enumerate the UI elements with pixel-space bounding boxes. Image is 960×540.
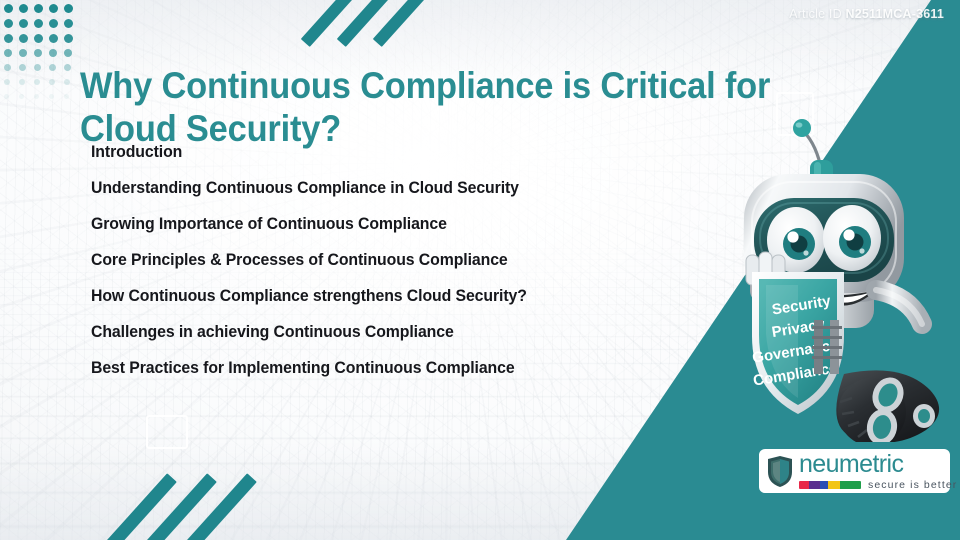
logo-text-block: neumetric secure is better bbox=[799, 452, 957, 491]
toc-item: Challenges in achieving Continuous Compl… bbox=[91, 314, 667, 350]
toc-item: Introduction bbox=[91, 134, 667, 170]
diagonal-stripes-bottom bbox=[128, 462, 268, 540]
toc-item: Understanding Continuous Compliance in C… bbox=[91, 170, 667, 206]
logo-shield-icon bbox=[766, 455, 794, 488]
logo-subline: secure is better bbox=[799, 479, 957, 491]
toc-item: How Continuous Compliance strengthens Cl… bbox=[91, 278, 667, 314]
article-id-label: Article ID bbox=[789, 7, 842, 21]
slide-canvas: Article ID N2511MCA-3611 Why Continuous … bbox=[0, 0, 960, 540]
article-id: Article ID N2511MCA-3611 bbox=[789, 7, 944, 21]
toc-item: Best Practices for Implementing Continuo… bbox=[91, 350, 667, 386]
robot-wheel bbox=[836, 370, 939, 442]
diagonal-stripes-top bbox=[320, 0, 450, 48]
robot-mascot-illustration: Security Privacy Governance Compliance bbox=[726, 112, 958, 442]
neumetric-logo: neumetric secure is better bbox=[757, 447, 952, 495]
dot-grid-decoration bbox=[4, 4, 79, 109]
table-of-contents: Introduction Understanding Continuous Co… bbox=[91, 134, 691, 386]
toc-item: Core Principles & Processes of Continuou… bbox=[91, 242, 667, 278]
logo-wordmark: neumetric bbox=[799, 452, 957, 476]
outline-square-decoration-bottom bbox=[146, 415, 188, 449]
logo-color-bar bbox=[799, 481, 861, 489]
toc-item: Growing Importance of Continuous Complia… bbox=[91, 206, 667, 242]
article-id-value: N2511MCA-3611 bbox=[846, 7, 945, 21]
logo-tagline: secure is better bbox=[868, 479, 957, 491]
